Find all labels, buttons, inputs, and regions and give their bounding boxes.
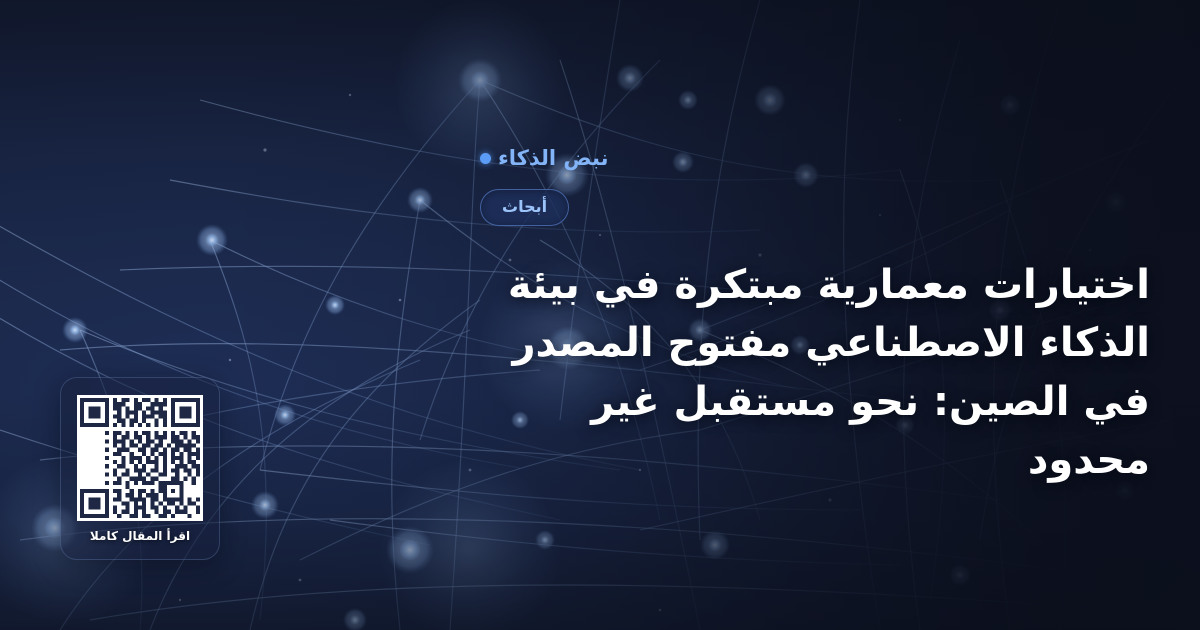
social-share-card: نبض الذكاء أبحاث اختيارات معمارية مبتكرة…: [0, 0, 1200, 630]
brand-dot-icon: [480, 153, 491, 164]
content-column: نبض الذكاء أبحاث اختيارات معمارية مبتكرة…: [480, 0, 1200, 630]
page-title: اختيارات معمارية مبتكرة في بيئة الذكاء ا…: [480, 256, 1150, 490]
qr-code-icon[interactable]: [77, 395, 203, 521]
brand-name: نبض الذكاء: [498, 148, 608, 169]
category-badge[interactable]: أبحاث: [480, 189, 569, 226]
qr-card[interactable]: اقرأ المقال كاملا: [60, 377, 220, 560]
qr-caption: اقرأ المقال كاملا: [90, 530, 190, 542]
brand-row: نبض الذكاء: [480, 148, 608, 169]
